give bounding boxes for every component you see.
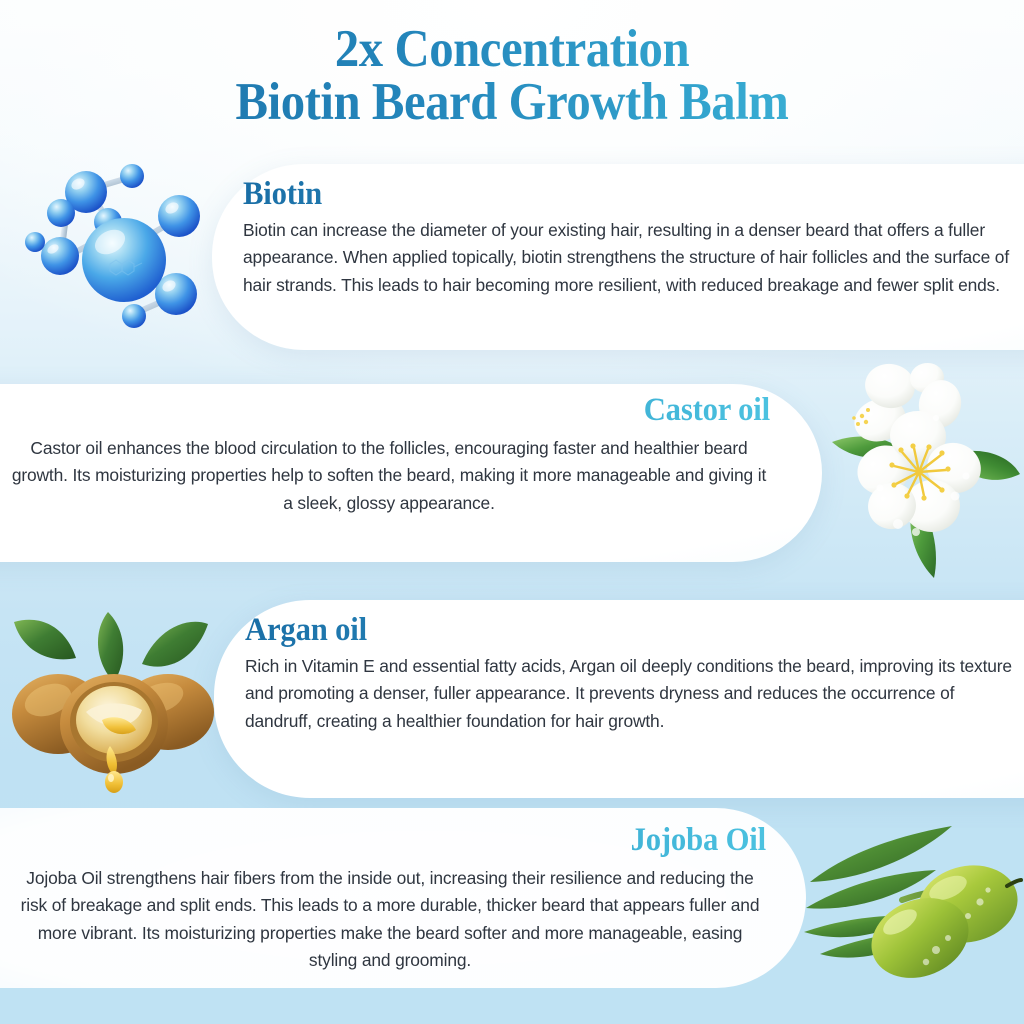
section-body-castor-oil: Castor oil enhances the blood circulatio… — [8, 435, 770, 516]
infographic-page: 2x Concentration Biotin Beard Growth Bal… — [0, 0, 1024, 1024]
page-title: 2x Concentration Biotin Beard Growth Bal… — [0, 22, 1024, 130]
section-body-jojoba-oil: Jojoba Oil strengthens hair fibers from … — [14, 865, 766, 974]
section-jojoba-oil: Jojoba Oil Jojoba Oil strengthens hair f… — [14, 822, 766, 974]
section-heading-castor-oil: Castor oil — [61, 392, 770, 428]
section-heading-jojoba-oil: Jojoba Oil — [67, 822, 766, 858]
section-body-argan-oil: Rich in Vitamin E and essential fatty ac… — [245, 653, 1020, 734]
section-heading-argan-oil: Argan oil — [245, 612, 966, 648]
argan-nut-icon — [2, 604, 226, 796]
olive-fruit-icon — [802, 798, 1024, 1014]
section-body-biotin: Biotin can increase the diameter of your… — [243, 217, 1015, 298]
title-line-1: 2x Concentration — [41, 22, 983, 77]
section-heading-biotin: Biotin — [243, 176, 961, 212]
section-biotin: Biotin Biotin can increase the diameter … — [243, 176, 1015, 299]
molecule-icon — [24, 160, 230, 352]
jasmine-flower-icon — [824, 356, 1024, 578]
section-argan-oil: Argan oil Rich in Vitamin E and essentia… — [245, 612, 1020, 735]
section-castor-oil: Castor oil Castor oil enhances the blood… — [8, 392, 770, 517]
title-line-2: Biotin Beard Growth Balm — [41, 75, 983, 130]
